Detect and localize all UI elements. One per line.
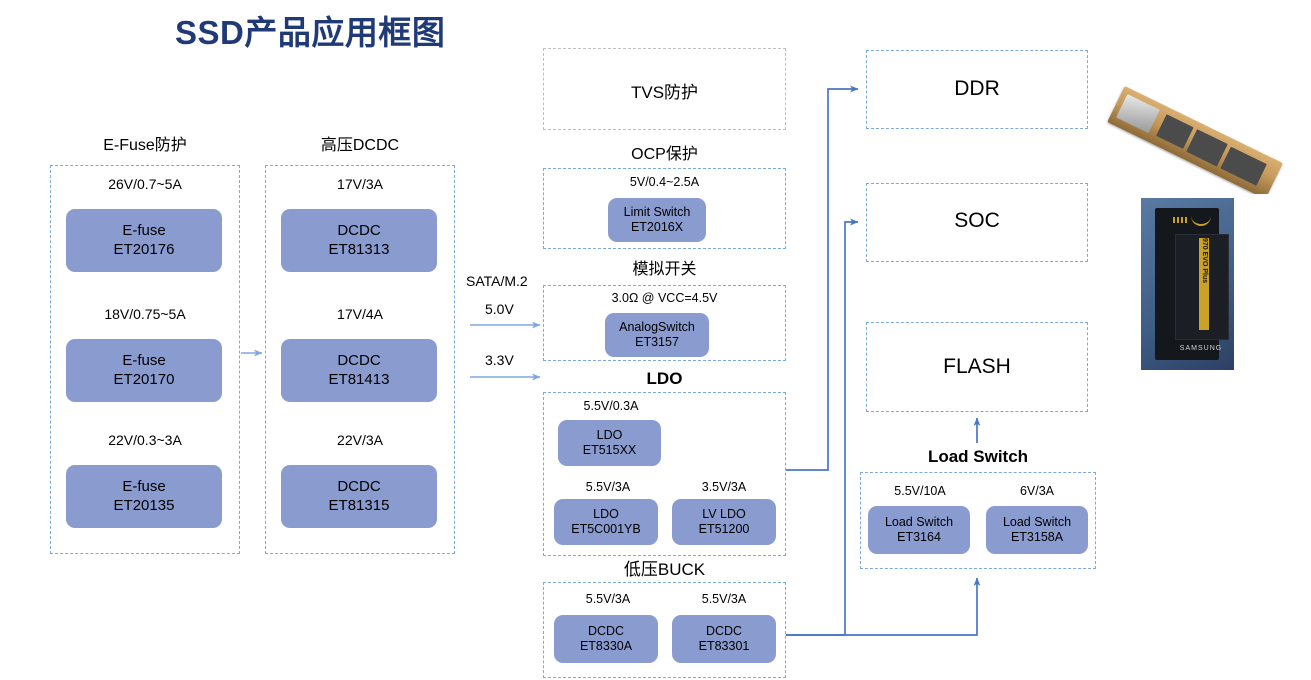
chip-line-2: ET20176 (114, 241, 175, 259)
buck-spec-1: 5.5V/3A (672, 592, 776, 606)
group-label-hv-dcdc: 高压DCDC (265, 131, 455, 155)
chip-dcdc-et83301[interactable]: DCDC ET83301 (672, 615, 776, 663)
buck-spec-0: 5.5V/3A (553, 592, 663, 606)
chip-line-1: LV LDO (702, 507, 746, 522)
load-switch-spec-1: 6V/3A (984, 484, 1090, 498)
chip-line-1: DCDC (337, 352, 380, 370)
chip-line-2: ET81413 (329, 371, 390, 389)
chip-line-1: E-fuse (122, 478, 165, 496)
chip-line-2: ET81313 (329, 241, 390, 259)
ldo-spec-2: 3.5V/3A (672, 480, 776, 494)
load-label-ddr: DDR (866, 77, 1088, 101)
group-label-load-switch: Load Switch (860, 447, 1096, 467)
group-label-analog-switch: 模拟开关 (543, 255, 786, 279)
efuse-spec-2: 22V/0.3~3A (60, 432, 230, 448)
chip-ldo-et515xx[interactable]: LDO ET515XX (558, 420, 661, 466)
hv-dcdc-spec-0: 17V/3A (275, 176, 445, 192)
group-label-ocp: OCP保护 (543, 140, 786, 164)
chip-line-2: ET51200 (699, 522, 750, 537)
chip-efuse-et20176[interactable]: E-fuse ET20176 (66, 209, 222, 272)
connector-buck-to-load-switch (786, 578, 977, 635)
input-rail-5v-label: 5.0V (485, 301, 514, 317)
chip-dcdc-et8330a[interactable]: DCDC ET8330A (554, 615, 658, 663)
chip-lv-ldo-et51200[interactable]: LV LDO ET51200 (672, 499, 776, 545)
chip-line-2: ET3164 (897, 530, 941, 545)
page-title: SSD产品应用框图 (175, 6, 445, 54)
chip-line-2: ET8330A (580, 639, 632, 654)
group-label-ldo: LDO (543, 369, 786, 389)
chip-line-2: ET20135 (114, 497, 175, 515)
load-switch-spec-0: 5.5V/10A (866, 484, 974, 498)
chip-limit-switch-et2016x[interactable]: Limit Switch ET2016X (608, 198, 706, 242)
chip-line-1: Load Switch (1003, 515, 1071, 530)
chip-line-2: ET2016X (631, 220, 683, 235)
connector-buck-to-soc (786, 222, 858, 635)
chip-dcdc-et81413[interactable]: DCDC ET81413 (281, 339, 437, 402)
chip-load-switch-et3158a[interactable]: Load Switch ET3158A (986, 506, 1088, 554)
evo-gold-text: 970 EVO Plus (1201, 238, 1208, 283)
chip-line-1: Load Switch (885, 515, 953, 530)
chip-analog-switch-et3157[interactable]: AnalogSwitch ET3157 (605, 313, 709, 357)
efuse-spec-0: 26V/0.7~5A (60, 176, 230, 192)
input-rail-3v3-label: 3.3V (485, 352, 514, 368)
analog-spec-0: 3.0Ω @ VCC=4.5V (543, 291, 786, 305)
chip-line-1: E-fuse (122, 352, 165, 370)
chip-dcdc-et81315[interactable]: DCDC ET81315 (281, 465, 437, 528)
chip-line-2: ET81315 (329, 497, 390, 515)
chip-line-2: ET83301 (699, 639, 750, 654)
chip-efuse-et20170[interactable]: E-fuse ET20170 (66, 339, 222, 402)
chip-line-2: ET3157 (635, 335, 679, 350)
load-label-flash: FLASH (866, 355, 1088, 379)
samsung-970-evo-plus-ssd-photo: 970 EVO Plus SAMSUNG (1141, 198, 1234, 370)
m2-ssd-photo (1104, 62, 1304, 194)
chip-line-2: ET20170 (114, 371, 175, 389)
ldo-spec-0: 5.5V/0.3A (556, 399, 666, 413)
input-interface-label: SATA/M.2 (466, 273, 528, 289)
ocp-spec-0: 5V/0.4~2.5A (543, 175, 786, 189)
chip-efuse-et20135[interactable]: E-fuse ET20135 (66, 465, 222, 528)
chip-line-1: LDO (593, 507, 619, 522)
chip-line-1: E-fuse (122, 222, 165, 240)
chip-line-2: ET515XX (583, 443, 637, 458)
chip-line-1: DCDC (588, 624, 624, 639)
chip-line-1: DCDC (337, 478, 380, 496)
chip-dcdc-et81313[interactable]: DCDC ET81313 (281, 209, 437, 272)
chip-line-1: DCDC (706, 624, 742, 639)
load-label-soc: SOC (866, 209, 1088, 233)
group-label-buck: 低压BUCK (543, 555, 786, 580)
chip-line-2: ET5C001YB (571, 522, 640, 537)
chip-line-1: AnalogSwitch (619, 320, 695, 335)
chip-load-switch-et3164[interactable]: Load Switch ET3164 (868, 506, 970, 554)
chip-line-2: ET3158A (1011, 530, 1063, 545)
chip-ldo-et5c001yb[interactable]: LDO ET5C001YB (554, 499, 658, 545)
group-label-efuse: E-Fuse防护 (50, 131, 240, 155)
hv-dcdc-spec-2: 22V/3A (275, 432, 445, 448)
chip-line-1: Limit Switch (624, 205, 691, 220)
evo-brand-text: SAMSUNG (1171, 345, 1231, 352)
hv-dcdc-spec-1: 17V/4A (275, 306, 445, 322)
ldo-spec-1: 5.5V/3A (553, 480, 663, 494)
chip-line-1: DCDC (337, 222, 380, 240)
tvs-label: TVS防护 (543, 78, 786, 103)
efuse-spec-1: 18V/0.75~5A (60, 306, 230, 322)
connector-ldo-to-ddr (786, 89, 858, 470)
chip-line-1: LDO (597, 428, 623, 443)
